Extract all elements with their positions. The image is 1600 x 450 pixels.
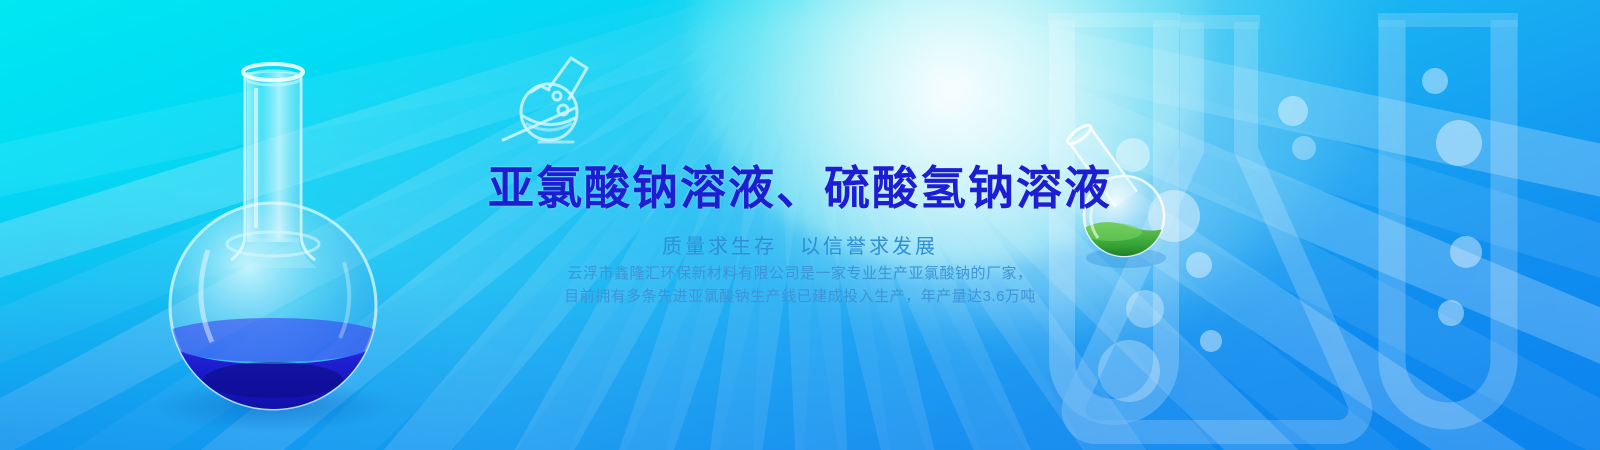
banner-description-line-1: 云浮市鑫隆汇环保新材料有限公司是一家专业生产亚氯酸钠的厂家， (0, 262, 1600, 285)
liquid-surface (157, 318, 389, 362)
icon-bubble-1 (553, 92, 561, 100)
banner-description-line-2: 目前拥有多条先进亚氯酸钠生产线已建成投入生产，年产量达3.6万吨 (0, 285, 1600, 308)
banner-title: 亚氯酸钠溶液、硫酸氢钠溶液 (0, 152, 1600, 218)
banner-description: 云浮市鑫隆汇环保新材料有限公司是一家专业生产亚氯酸钠的厂家， 目前拥有多条先进亚… (0, 262, 1600, 308)
promotional-banner: 亚氯酸钠溶液、硫酸氢钠溶液 质量求生存 以信誉求发展 云浮市鑫隆汇环保新材料有限… (0, 0, 1600, 450)
outline-flask-icon (487, 52, 605, 152)
bubble (1098, 340, 1160, 402)
liquid-depth-shade (203, 362, 343, 398)
bubble (1200, 330, 1222, 352)
bubble (1422, 68, 1448, 94)
banner-subtitle: 质量求生存 以信誉求发展 (0, 230, 1600, 259)
bubble (1278, 96, 1308, 126)
outline-flask-icon-svg (487, 52, 605, 152)
